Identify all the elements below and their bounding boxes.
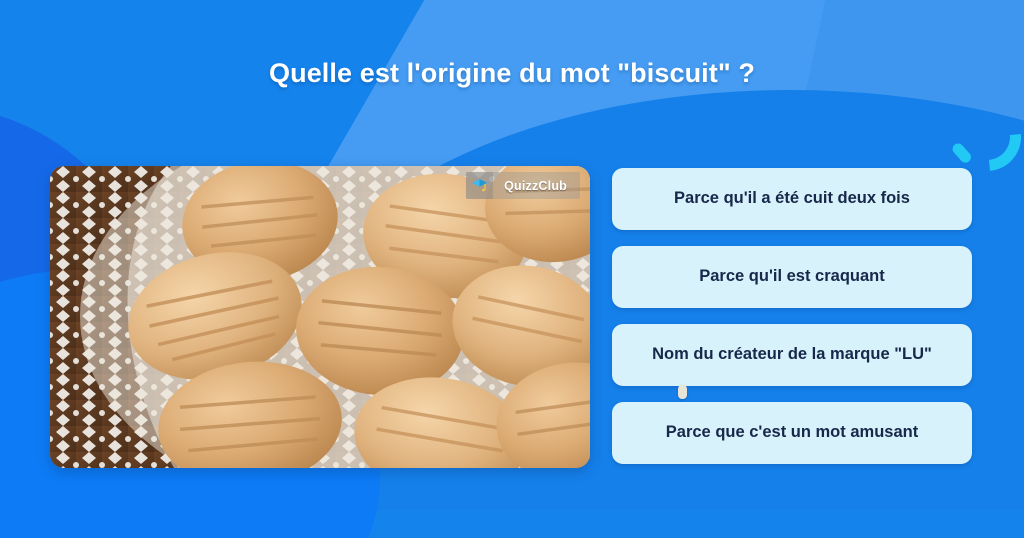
quizzclub-watermark: QuizzClub: [466, 172, 580, 199]
question-image-panel: QuizzClub: [50, 166, 590, 468]
answer-option-4-label: Parce que c'est un mot amusant: [652, 423, 932, 443]
answer-option-2[interactable]: Parce qu'il est craquant: [612, 246, 972, 308]
cookies-photo: [50, 166, 590, 468]
graduation-cap-icon: [466, 172, 493, 199]
answer-option-2-label: Parce qu'il est craquant: [685, 267, 899, 287]
cursor-marker-icon: [678, 385, 687, 399]
answer-options-list: Parce qu'il a été cuit deux fois Parce q…: [612, 168, 972, 464]
answer-option-1-label: Parce qu'il a été cuit deux fois: [660, 189, 924, 209]
answer-option-3-label: Nom du créateur de la marque "LU": [638, 345, 946, 365]
answer-option-3[interactable]: Nom du créateur de la marque "LU": [612, 324, 972, 386]
question-title: Quelle est l'origine du mot "biscuit" ?: [0, 58, 1024, 89]
answer-option-1[interactable]: Parce qu'il a été cuit deux fois: [612, 168, 972, 230]
answer-option-4[interactable]: Parce que c'est un mot amusant: [612, 402, 972, 464]
quiz-slide: Quelle est l'origine du mot "biscuit" ?: [0, 0, 1024, 538]
quizzclub-label: QuizzClub: [493, 179, 580, 193]
